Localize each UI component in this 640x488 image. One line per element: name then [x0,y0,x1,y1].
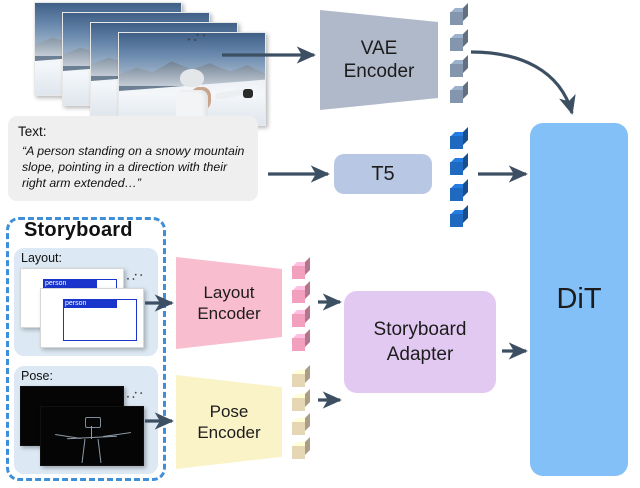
adapter-label-1: Storyboard [374,317,467,342]
text-token-cube [450,184,467,201]
video-frame [118,32,266,126]
pose-token-cube [292,418,309,435]
layout-box-label: person [43,279,97,288]
layout-encoder-label-1: Layout [203,282,254,303]
storyboard-layout-panel: Layout: ·.·. person person [14,248,158,356]
layout-ellipsis: ·.·. [124,267,145,286]
t5-block: T5 [334,154,432,194]
t5-label: T5 [371,163,394,186]
pose-token-cube [292,442,309,459]
text-prompt: “A person standing on a snowy mountain s… [18,143,248,191]
video-latent-cube [450,34,467,51]
vae-encoder-label-2: Encoder [344,60,415,83]
layout-box-label: person [63,299,117,308]
layout-encoder-label-2: Encoder [197,303,260,324]
dit-block: DiT [530,123,628,476]
vae-encoder-label-1: VAE [361,37,398,60]
storyboard-adapter-block: Storyboard Adapter [344,291,496,393]
layout-encoder-block: Layout Encoder [176,257,282,349]
layout-token-cube [292,286,309,303]
text-token-cube [450,158,467,175]
layout-token-cube [292,334,309,351]
layout-token-cube [292,310,309,327]
text-token-cube [450,210,467,227]
text-label: Text: [18,123,248,140]
dit-label: DiT [556,283,601,316]
pose-token-cube [292,370,309,387]
arrow-vae-tokens-to-dit [471,52,572,113]
video-latent-cube [450,60,467,77]
pose-encoder-label-2: Encoder [197,422,260,443]
text-token-cube [450,132,467,149]
vae-encoder-block: VAE Encoder [320,10,438,110]
pose-token-cube [292,394,309,411]
video-latent-cube [450,8,467,25]
layout-label: Layout: [21,251,62,265]
layout-card: person [40,288,144,348]
pose-ellipsis: ·.·. [124,385,145,404]
adapter-label-2: Adapter [387,342,454,367]
pose-card [40,406,144,466]
pose-encoder-block: Pose Encoder [176,375,282,469]
video-latent-cube [450,86,467,103]
storyboard-pose-panel: Pose: ·.·. [14,366,158,474]
text-input-box: Text: “A person standing on a snowy moun… [8,116,258,201]
storyboard-title: Storyboard [24,219,133,242]
pose-label: Pose: [21,369,53,383]
layout-token-cube [292,262,309,279]
pose-encoder-label-1: Pose [210,401,249,422]
